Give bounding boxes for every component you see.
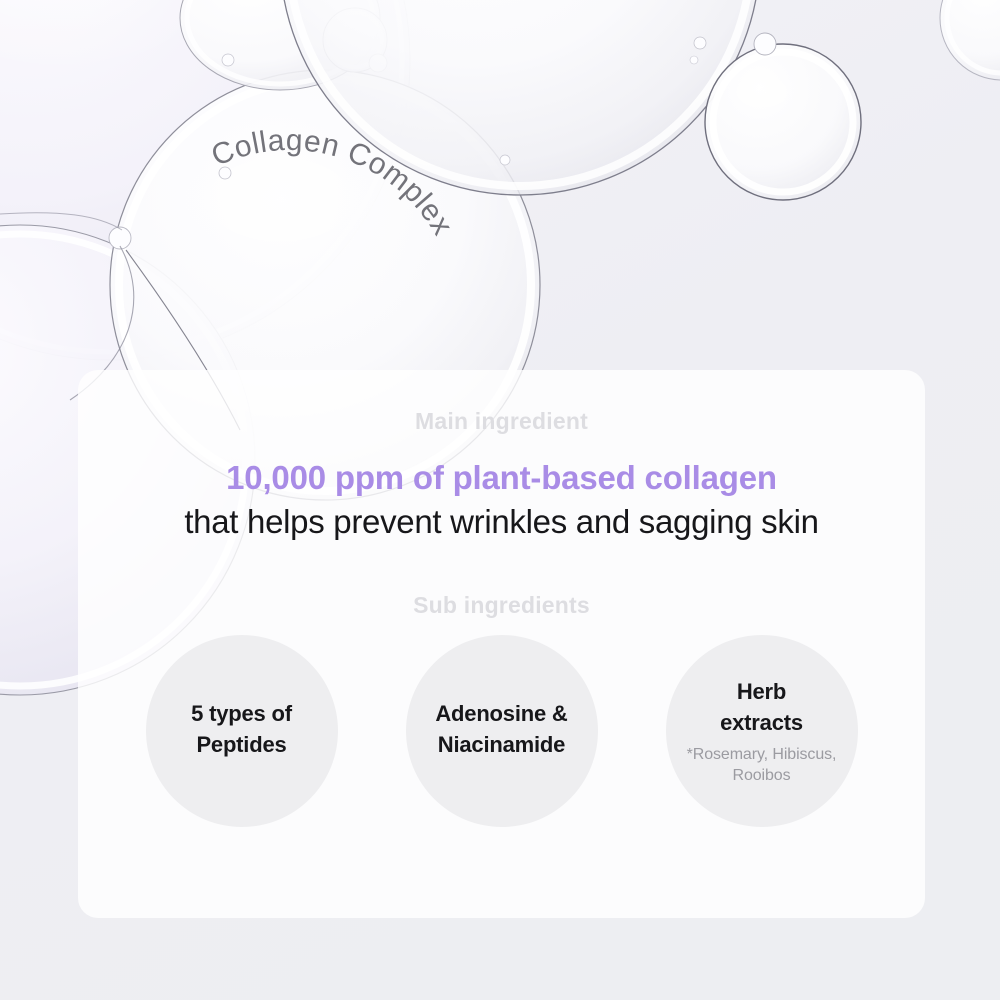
sub-ingredient-bubble-adenosine-niacinamide: Adenosine & Niacinamide <box>406 635 598 827</box>
main-ingredient-section-label: Main ingredient <box>78 408 925 436</box>
sub-ingredient-bubble-peptides: 5 types of Peptides <box>146 635 338 827</box>
headline-accent-text: 10,000 ppm of plant-based collagen <box>78 458 925 498</box>
sub-ingredient-note: *Rosemary, Hibiscus, Rooibos <box>687 744 837 787</box>
headline-body-text: that helps prevent wrinkles and sagging … <box>78 501 925 544</box>
ingredient-info-card: Main ingredient 10,000 ppm of plant-base… <box>78 370 925 918</box>
sub-ingredients-row: 5 types of Peptides Adenosine & Niacinam… <box>78 635 925 827</box>
main-ingredient-headline: 10,000 ppm of plant-based collagen that … <box>78 458 925 544</box>
sub-ingredient-title: Herb extracts <box>720 676 803 738</box>
sub-ingredient-title: 5 types of Peptides <box>191 698 292 760</box>
promo-graphic: Collagen Complex Main ingredient 10,000 … <box>0 0 1000 1000</box>
sub-ingredients-section-label: Sub ingredients <box>78 592 925 620</box>
sub-ingredient-title: Adenosine & Niacinamide <box>435 698 567 760</box>
sub-ingredient-bubble-herb-extracts: Herb extracts *Rosemary, Hibiscus, Rooib… <box>666 635 858 827</box>
